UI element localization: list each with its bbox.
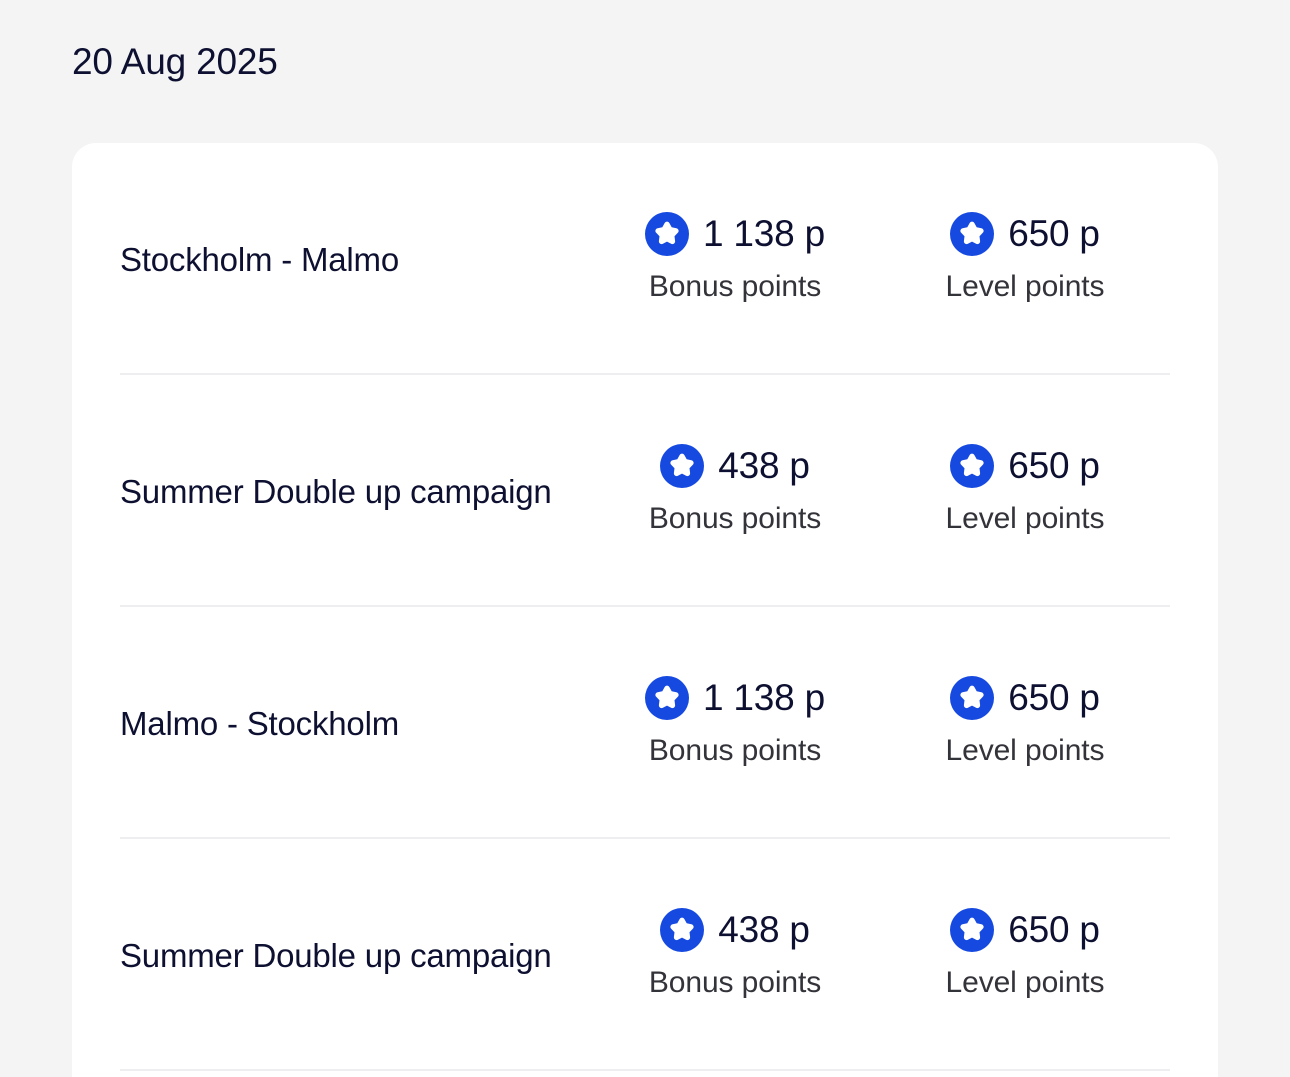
level-points-value: 650 p [1008, 444, 1100, 488]
bonus-points-value: 438 p [718, 444, 810, 488]
transaction-row[interactable]: Summer Double up campaign 438 p Bonus po… [72, 839, 1218, 1071]
level-points-value: 650 p [1008, 212, 1100, 256]
bonus-points-value: 438 p [718, 908, 810, 952]
level-points-label: Level points [946, 732, 1105, 770]
level-points-column: 650 p Level points [880, 676, 1170, 770]
bonus-points-column: 438 p Bonus points [590, 444, 880, 538]
bonus-points-value-row: 1 138 p [645, 676, 825, 720]
transaction-title: Summer Double up campaign [120, 928, 590, 983]
bonus-points-value: 1 138 p [703, 676, 825, 720]
transaction-row[interactable]: Stockholm - Malmo 1 138 p Bonus points 6… [72, 143, 1218, 375]
points-history-page: 20 Aug 2025 Stockholm - Malmo 1 138 p Bo… [0, 0, 1290, 1077]
bonus-points-value-row: 438 p [660, 444, 810, 488]
bonus-points-label: Bonus points [649, 732, 821, 770]
star-badge-icon [645, 212, 689, 256]
transaction-title: Malmo - Stockholm [120, 696, 590, 751]
star-badge-icon [950, 908, 994, 952]
bonus-points-label: Bonus points [649, 964, 821, 1002]
level-points-value-row: 650 p [950, 908, 1100, 952]
star-badge-icon [645, 676, 689, 720]
bonus-points-value: 1 138 p [703, 212, 825, 256]
level-points-column: 650 p Level points [880, 908, 1170, 1002]
star-badge-icon [950, 676, 994, 720]
level-points-value-row: 650 p [950, 444, 1100, 488]
level-points-value: 650 p [1008, 908, 1100, 952]
level-points-label: Level points [946, 500, 1105, 538]
page-title: 20 Aug 2025 [72, 38, 278, 86]
level-points-label: Level points [946, 268, 1105, 306]
transactions-card: Stockholm - Malmo 1 138 p Bonus points 6… [72, 143, 1218, 1077]
level-points-column: 650 p Level points [880, 444, 1170, 538]
star-badge-icon [950, 212, 994, 256]
star-badge-icon [660, 908, 704, 952]
transaction-title: Summer Double up campaign [120, 464, 590, 519]
level-points-column: 650 p Level points [880, 212, 1170, 306]
transaction-list: Stockholm - Malmo 1 138 p Bonus points 6… [72, 143, 1218, 1071]
bonus-points-label: Bonus points [649, 268, 821, 306]
row-divider [120, 1069, 1170, 1071]
star-badge-icon [660, 444, 704, 488]
bonus-points-column: 1 138 p Bonus points [590, 212, 880, 306]
transaction-row[interactable]: Summer Double up campaign 438 p Bonus po… [72, 375, 1218, 607]
level-points-value: 650 p [1008, 676, 1100, 720]
bonus-points-label: Bonus points [649, 500, 821, 538]
bonus-points-value-row: 1 138 p [645, 212, 825, 256]
transaction-row[interactable]: Malmo - Stockholm 1 138 p Bonus points 6… [72, 607, 1218, 839]
level-points-label: Level points [946, 964, 1105, 1002]
level-points-value-row: 650 p [950, 676, 1100, 720]
star-badge-icon [950, 444, 994, 488]
transaction-title: Stockholm - Malmo [120, 232, 590, 287]
bonus-points-column: 1 138 p Bonus points [590, 676, 880, 770]
bonus-points-column: 438 p Bonus points [590, 908, 880, 1002]
level-points-value-row: 650 p [950, 212, 1100, 256]
bonus-points-value-row: 438 p [660, 908, 810, 952]
